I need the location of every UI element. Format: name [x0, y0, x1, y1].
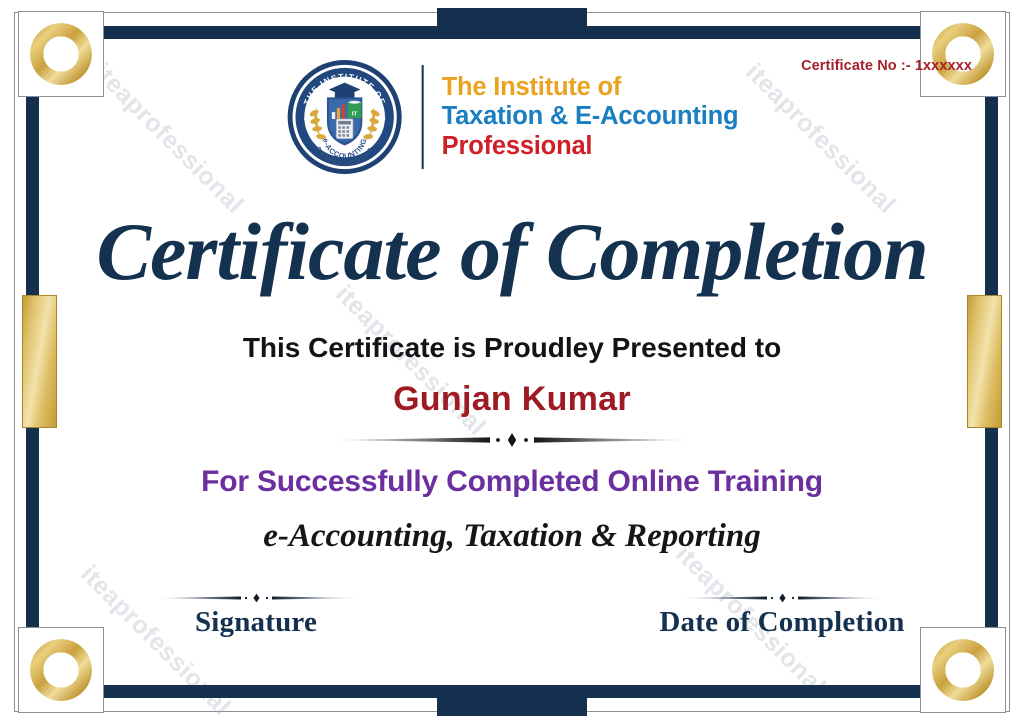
institute-logo-block: THE INSTITUTE OF TAXATION & e-ACCOUNTING — [286, 58, 739, 176]
page-title: Certificate of Completion — [46, 205, 978, 299]
certificate-header: Certificate No :- 1xxxxxx THE INSTITUTE … — [46, 50, 978, 180]
course-line: For Successfully Completed Online Traini… — [46, 465, 978, 499]
decorative-divider — [322, 432, 702, 448]
certificate-content: Certificate No :- 1xxxxxx THE INSTITUTE … — [46, 40, 978, 684]
signature-label: Signature — [106, 606, 406, 639]
border-block-top — [437, 8, 587, 39]
date-rule — [675, 592, 890, 604]
date-label: Date of Completion — [632, 606, 932, 639]
divider-flourish-icon — [149, 592, 364, 604]
signature-rule — [149, 592, 364, 604]
signature-field: Signature — [106, 592, 406, 639]
recipient-name: Gunjan Kumar — [46, 380, 978, 419]
institute-seal-icon: THE INSTITUTE OF TAXATION & e-ACCOUNTING — [286, 58, 404, 176]
svg-text:IT: IT — [352, 112, 358, 118]
org-line-1: The Institute of — [442, 73, 739, 102]
organization-name: The Institute of Taxation & E-Accounting… — [442, 73, 739, 160]
certificate-footer: Signature Date of Completion — [46, 592, 978, 672]
subject-line: e-Accounting, Taxation & Reporting — [46, 518, 978, 555]
divider-flourish-icon — [322, 432, 702, 448]
border-block-bottom — [437, 685, 587, 716]
logo-vertical-divider — [422, 65, 424, 169]
divider-flourish-icon — [675, 592, 890, 604]
presented-to-line: This Certificate is Proudley Presented t… — [46, 332, 978, 364]
org-line-2: Taxation & E-Accounting — [442, 102, 739, 131]
certificate-page: iteaprofessional iteaprofessional iteapr… — [0, 0, 1024, 724]
date-field: Date of Completion — [632, 592, 932, 639]
org-line-3: Professional — [442, 132, 739, 161]
certificate-number: Certificate No :- 1xxxxxx — [801, 58, 972, 74]
